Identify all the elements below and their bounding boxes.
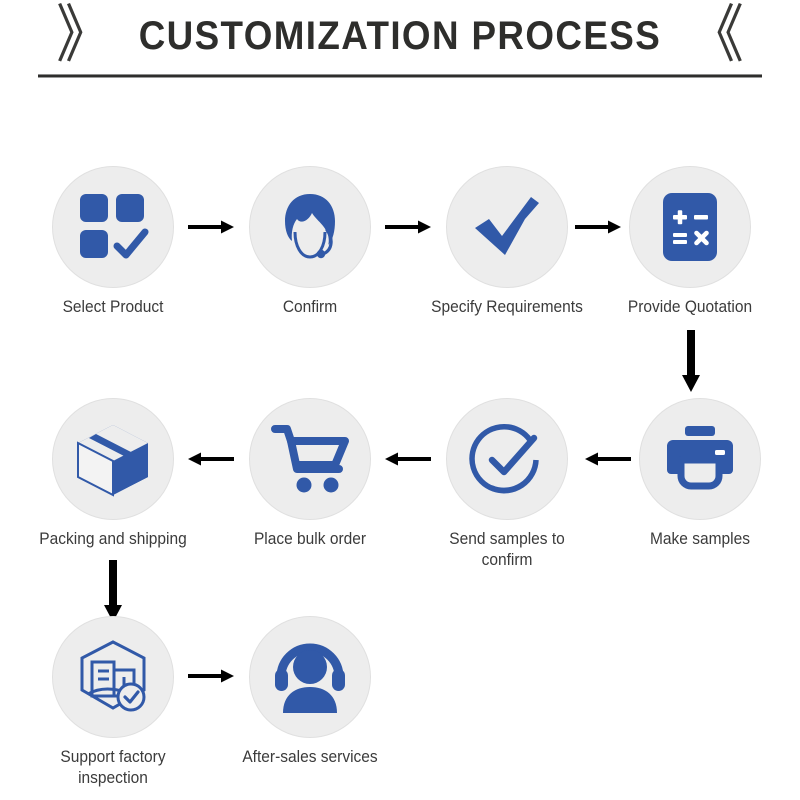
printer-icon: [663, 424, 737, 494]
step-icon-circle: [446, 398, 568, 520]
step-label: Specify Requirements: [427, 297, 587, 318]
arrow-row1-step3-step4: [575, 217, 621, 237]
flow-step-packing-and-shipping[interactable]: Packing and shipping: [28, 398, 198, 550]
flow-step-confirm[interactable]: Confirm: [225, 166, 395, 318]
step-icon-circle: [52, 616, 174, 738]
arrow-row1-to-row2: [681, 330, 701, 392]
step-icon-circle: [249, 616, 371, 738]
arrow-row2-step2-step1: [188, 449, 234, 469]
step-label: Support factory inspection: [33, 747, 193, 789]
step-icon-circle: [249, 166, 371, 288]
process-flow: Select Product Confirm Specify Requireme…: [0, 0, 800, 800]
calculator-icon: [655, 189, 725, 265]
arrow-row1-step2-step3: [385, 217, 431, 237]
step-icon-circle: [249, 398, 371, 520]
shopping-cart-icon: [271, 423, 349, 495]
step-icon-circle: [446, 166, 568, 288]
box-package-icon: [74, 420, 152, 498]
headset-agent-icon: [271, 188, 349, 266]
flow-step-select-product[interactable]: Select Product: [28, 166, 198, 318]
flow-step-support-factory-inspection[interactable]: Support factory inspection: [28, 616, 198, 789]
arrow-row2-step4-step3: [585, 449, 631, 469]
step-icon-circle: [52, 398, 174, 520]
arrow-row2-to-row3: [103, 560, 123, 622]
flow-step-after-sales-services[interactable]: After-sales services: [225, 616, 395, 768]
arrow-row3-step1-step2: [188, 666, 234, 686]
flow-step-make-samples[interactable]: Make samples: [615, 398, 785, 550]
flow-step-place-bulk-order[interactable]: Place bulk order: [225, 398, 395, 550]
step-label: Packing and shipping: [33, 529, 193, 550]
flow-step-send-samples-to-confirm[interactable]: Send samples to confirm: [422, 398, 592, 571]
circle-check-icon: [468, 420, 546, 498]
step-label: After-sales services: [230, 747, 390, 768]
step-label: Send samples to confirm: [427, 529, 587, 571]
checkmark-icon: [469, 189, 545, 265]
arrow-row2-step3-step2: [385, 449, 431, 469]
step-icon-circle: [629, 166, 751, 288]
step-label: Make samples: [620, 529, 780, 550]
step-label: Select Product: [33, 297, 193, 318]
arrow-row1-step1-step2: [188, 217, 234, 237]
flow-step-provide-quotation[interactable]: Provide Quotation: [605, 166, 775, 318]
step-label: Place bulk order: [230, 529, 390, 550]
step-icon-circle: [52, 166, 174, 288]
support-person-icon: [271, 641, 349, 713]
flow-step-specify-requirements[interactable]: Specify Requirements: [422, 166, 592, 318]
factory-inspection-icon: [74, 638, 152, 716]
step-icon-circle: [639, 398, 761, 520]
step-label: Confirm: [230, 297, 390, 318]
step-label: Provide Quotation: [610, 297, 770, 318]
squares-check-icon: [76, 190, 150, 264]
